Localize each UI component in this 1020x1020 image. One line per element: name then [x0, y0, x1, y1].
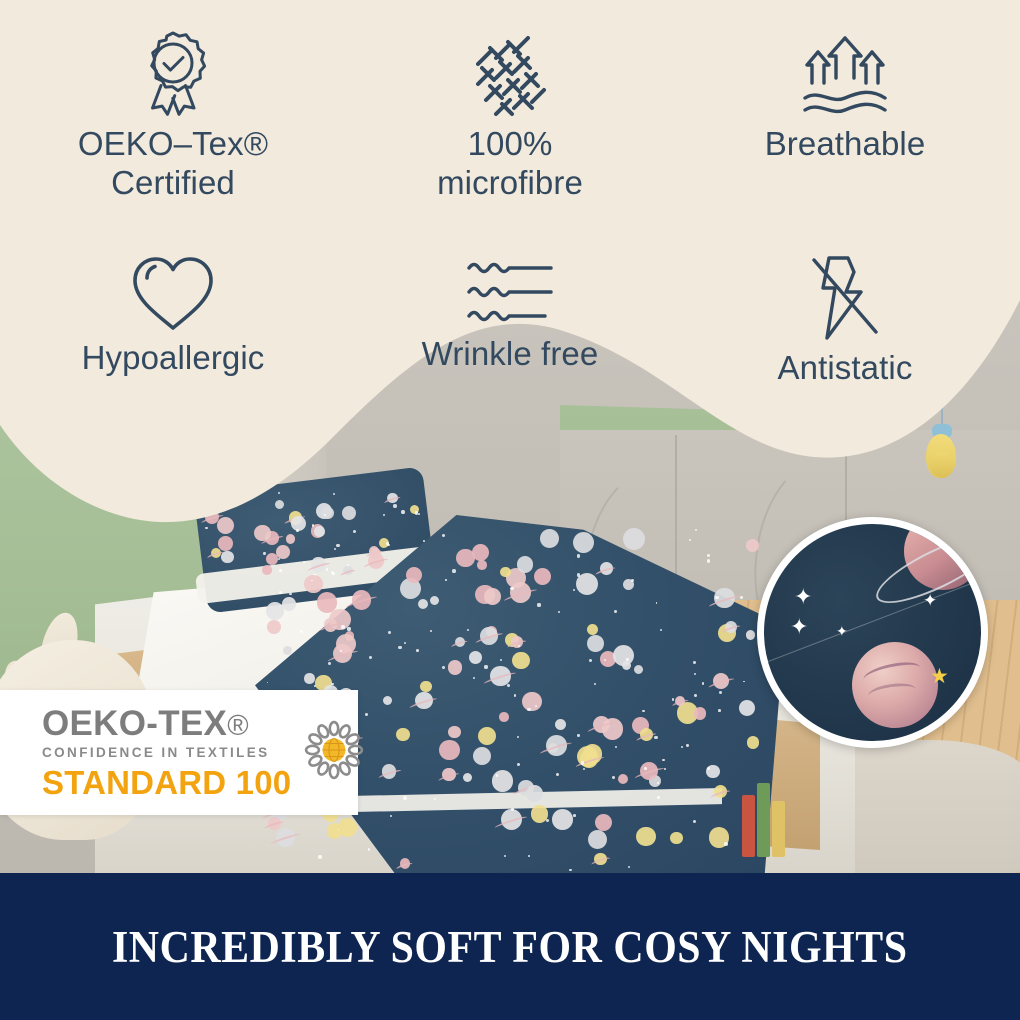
star-dot-motif [657, 782, 659, 784]
star-dot-motif [430, 630, 432, 632]
oeko-tex-brand: OEKO-TEX® [42, 706, 291, 741]
wavy-to-straight-lines-icon [365, 252, 655, 335]
bottom-banner: INCREDIBLY SOFT FOR COSY NIGHTS [0, 873, 1020, 1020]
planet-motif [694, 707, 706, 719]
planet-motif [595, 814, 612, 831]
star-dot-motif [702, 682, 704, 684]
feature-label: Antistatic [700, 349, 990, 388]
planet-motif [587, 635, 604, 652]
feature-label: 100% microfibre [365, 125, 655, 202]
planet-motif [314, 526, 324, 536]
sparkle-icon: ✦ [790, 616, 808, 638]
banner-headline: INCREDIBLY SOFT FOR COSY NIGHTS [112, 921, 908, 973]
star-dot-motif [401, 510, 405, 514]
planet-motif [587, 624, 598, 635]
star-dot-motif [693, 820, 696, 823]
star-dot-motif [336, 544, 339, 547]
star-dot-motif [707, 767, 710, 770]
planet-motif [304, 673, 314, 683]
star-dot-motif [511, 808, 513, 810]
planet-motif [473, 747, 491, 765]
star-dot-motif [573, 814, 576, 817]
planet-motif [276, 545, 290, 559]
star-dot-motif [415, 511, 418, 514]
star-dot-motif [393, 504, 397, 508]
star-dot-motif [347, 627, 350, 630]
star-dot-motif [535, 705, 537, 707]
woven-fabric-icon [365, 28, 655, 125]
planet-motif [555, 719, 566, 730]
feature-label: Wrinkle free [365, 335, 655, 374]
star-dot-motif [403, 796, 407, 800]
planet-motif [552, 809, 573, 830]
heart-icon [28, 252, 318, 339]
oeko-tex-certification-card: OEKO-TEX® CONFIDENCE IN TEXTILES STANDAR… [0, 690, 358, 815]
planet-motif [484, 588, 501, 605]
feature-antistatic: Antistatic [700, 252, 990, 388]
star-dot-motif [686, 744, 688, 746]
planet-motif [517, 556, 533, 572]
feature-microfibre: 100% microfibre [365, 28, 655, 202]
planet-motif [492, 770, 514, 792]
planet-motif [618, 774, 628, 784]
planet-motif [321, 507, 333, 519]
star-dot-motif [518, 645, 520, 647]
star-dot-motif [318, 855, 322, 859]
star-dot-motif [664, 768, 666, 770]
planet-motif [512, 652, 529, 669]
oeko-tex-flower-globe-logo [297, 713, 371, 792]
star-dot-motif [500, 659, 502, 661]
planet-motif [499, 712, 508, 721]
star-dot-motif [434, 798, 436, 800]
star-dot-motif [484, 665, 487, 668]
star-dot-motif [314, 685, 316, 687]
planet-motif [275, 500, 284, 509]
planet-motif [500, 567, 510, 577]
star-dot-motif [718, 709, 721, 712]
star-dot-motif [326, 568, 329, 571]
star-dot-motif [657, 796, 660, 799]
star-dot-motif [614, 610, 617, 613]
planet-motif [254, 525, 270, 541]
hanging-toy-bead-yellow [930, 452, 954, 478]
oeko-tex-standard: STANDARD 100 [42, 766, 291, 799]
planet-motif [522, 692, 542, 712]
planet-motif [534, 568, 552, 586]
planet-motif [439, 740, 460, 761]
star-dot-motif [537, 603, 540, 606]
star-dot-motif [333, 493, 335, 495]
star-dot-motif [312, 524, 314, 526]
star-dot-motif [368, 848, 370, 850]
star-dot-motif [263, 552, 265, 554]
star-dot-motif [569, 869, 572, 872]
star-dot-motif [695, 529, 697, 531]
star-dot-motif [416, 649, 419, 652]
star-dot-motif [694, 694, 697, 697]
star-dot-motif [644, 767, 647, 770]
lightning-bolt-slashed-icon [700, 252, 990, 349]
planet-motif [396, 728, 410, 742]
planet-motif [463, 773, 472, 782]
sparkle-icon: ✦ [836, 624, 848, 638]
planet-motif [623, 528, 645, 550]
star-dot-motif [594, 683, 596, 685]
planet-motif [266, 602, 284, 620]
star-dot-motif [612, 776, 615, 779]
award-rosette-icon [28, 28, 318, 125]
star-dot-motif [642, 710, 645, 713]
planet-motif [317, 592, 337, 612]
star-dot-motif [331, 571, 333, 573]
feature-label: OEKO–Tex® Certified [28, 125, 318, 202]
star-dot-motif [452, 569, 456, 573]
planet-motif [573, 532, 594, 553]
star-dot-motif [528, 855, 530, 857]
planet-motif [448, 726, 460, 738]
planet-motif [472, 544, 489, 561]
product-infographic: ★ ✦ ✦ ✦ ✦ OEKO–Tex® Certified [0, 0, 1020, 1020]
star-dot-motif [626, 658, 629, 661]
planet-motif [420, 681, 432, 693]
star-dot-motif [694, 673, 696, 675]
feature-hypoallergic: Hypoallergic [28, 252, 318, 378]
star-dot-motif [303, 561, 305, 563]
planet-motif [747, 736, 760, 749]
fabric-closeup-detail-circle: ★ ✦ ✦ ✦ ✦ [757, 517, 988, 748]
star-dot-motif [581, 761, 584, 764]
star-dot-motif [662, 759, 665, 762]
star-dot-motif [398, 646, 401, 649]
star-dot-motif [514, 694, 516, 696]
book [772, 801, 785, 857]
planet-motif [304, 575, 323, 594]
feature-wrinkle-free: Wrinkle free [365, 252, 655, 374]
planet-motif [478, 727, 496, 745]
planet-motif [636, 827, 655, 846]
planet-motif [342, 506, 356, 520]
sparkle-icon: ✦ [794, 586, 812, 608]
planet-motif [221, 551, 234, 564]
oeko-tex-tagline: CONFIDENCE IN TEXTILES [42, 746, 291, 760]
oeko-tex-text-block: OEKO-TEX® CONFIDENCE IN TEXTILES STANDAR… [0, 706, 291, 799]
star-dot-motif [577, 734, 579, 736]
star-dot-motif [724, 842, 728, 846]
feature-label: Hypoallergic [28, 339, 318, 378]
star-dot-motif [504, 855, 506, 857]
planet-motif [477, 560, 487, 570]
airflow-arrows-icon [700, 28, 990, 125]
star-dot-motif [279, 569, 281, 571]
star-dot-motif [654, 736, 657, 739]
planet-motif [370, 548, 381, 559]
sparkle-icon: ✦ [923, 592, 937, 609]
planet-motif [406, 567, 422, 583]
star-dot-motif [300, 630, 303, 633]
star-dot-motif [279, 591, 282, 594]
planet-motif [739, 700, 755, 716]
planet-motif [286, 534, 295, 543]
star-dot-motif [558, 611, 560, 613]
star-dot-motif [341, 625, 345, 629]
star-dot-motif [442, 666, 445, 669]
feature-oeko-tex-certified: OEKO–Tex® Certified [28, 28, 318, 202]
planet-motif [327, 823, 342, 838]
star-dot-motif [390, 815, 392, 817]
planet-motif [622, 661, 631, 670]
star-dot-motif [510, 587, 514, 591]
planet-motif [448, 660, 462, 674]
star-dot-motif [577, 573, 581, 577]
planet-motif [746, 630, 756, 640]
feature-badges: OEKO–Tex® Certified [0, 0, 1020, 420]
feature-label: Breathable [700, 125, 990, 164]
star-dot-motif [423, 540, 425, 542]
book [757, 783, 770, 857]
star-dot-motif [672, 698, 674, 700]
star-dot-motif [707, 559, 710, 562]
book [742, 795, 755, 857]
feature-breathable: Breathable [700, 28, 990, 164]
star-dot-motif [577, 554, 581, 558]
